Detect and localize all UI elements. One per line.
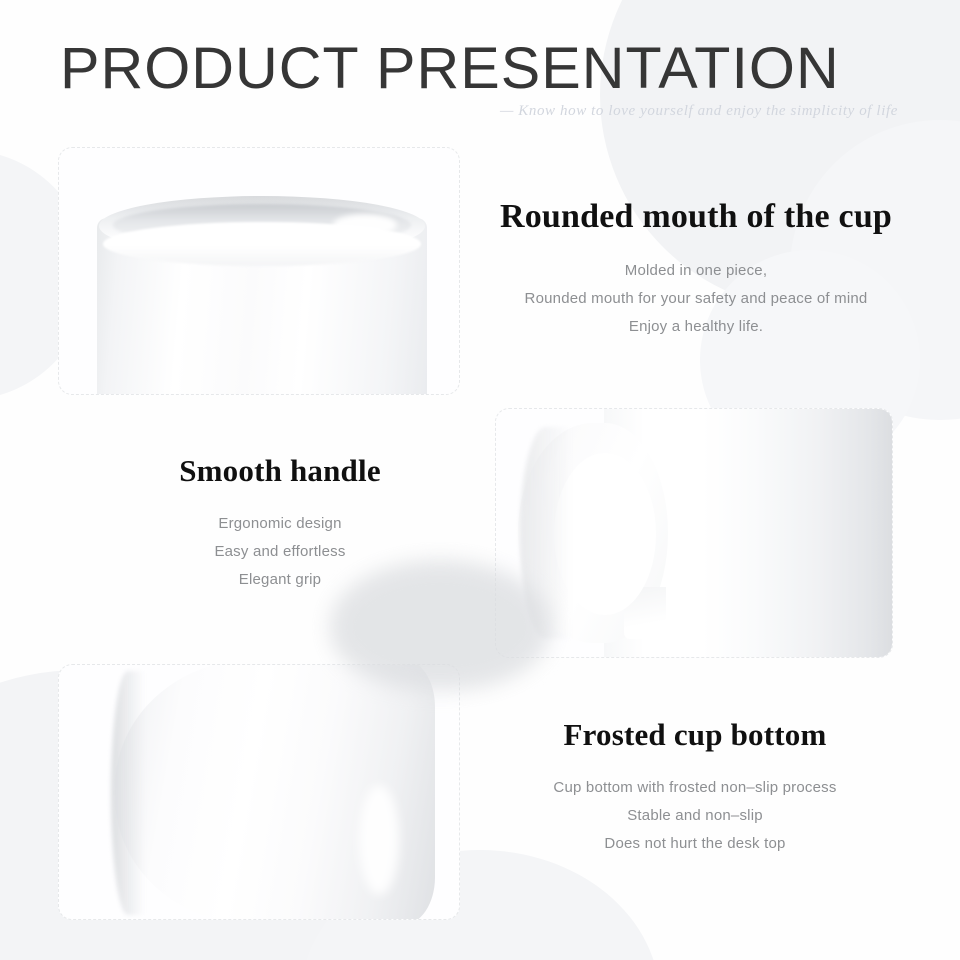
- feature-title-smooth-handle: Smooth handle: [58, 454, 502, 488]
- feature-line: Ergonomic design: [58, 510, 502, 538]
- cup-bottom-edge: [111, 671, 145, 915]
- page-subtitle: — Know how to love yourself and enjoy th…: [500, 103, 898, 120]
- feature-title-frosted-bottom: Frosted cup bottom: [495, 718, 895, 752]
- feature-line: Does not hurt the desk top: [495, 830, 895, 858]
- page-title: PRODUCT PRESENTATION: [60, 40, 840, 98]
- feature-body-frosted-bottom: Cup bottom with frosted non–slip process…: [495, 774, 895, 858]
- cup-rim-highlight: [333, 214, 397, 236]
- feature-line: Enjoy a healthy life.: [470, 313, 922, 341]
- feature-title-rounded-mouth: Rounded mouth of the cup: [470, 198, 922, 235]
- photo-panel-mug-handle: [495, 408, 893, 658]
- cup-bottom-highlight: [359, 785, 399, 895]
- feature-line: Easy and effortless: [58, 538, 502, 566]
- feature-rounded-mouth: Rounded mouth of the cup Molded in one p…: [470, 198, 922, 341]
- feature-line: Stable and non–slip: [495, 802, 895, 830]
- feature-line: Rounded mouth for your safety and peace …: [470, 285, 922, 313]
- photo-panel-cup-rim: [58, 147, 460, 395]
- feature-line: Molded in one piece,: [470, 257, 922, 285]
- product-presentation-page: PRODUCT PRESENTATION — Know how to love …: [0, 0, 960, 960]
- cup-bottom-photo: [59, 665, 459, 919]
- feature-line: Elegant grip: [58, 566, 502, 594]
- cup-rim-photo: [97, 196, 427, 395]
- photo-panel-cup-bottom: [58, 664, 460, 920]
- feature-smooth-handle: Smooth handle Ergonomic design Easy and …: [58, 454, 502, 594]
- feature-body-rounded-mouth: Molded in one piece, Rounded mouth for y…: [470, 257, 922, 341]
- feature-frosted-bottom: Frosted cup bottom Cup bottom with frost…: [495, 718, 895, 858]
- feature-body-smooth-handle: Ergonomic design Easy and effortless Ele…: [58, 510, 502, 594]
- feature-line: Cup bottom with frosted non–slip process: [495, 774, 895, 802]
